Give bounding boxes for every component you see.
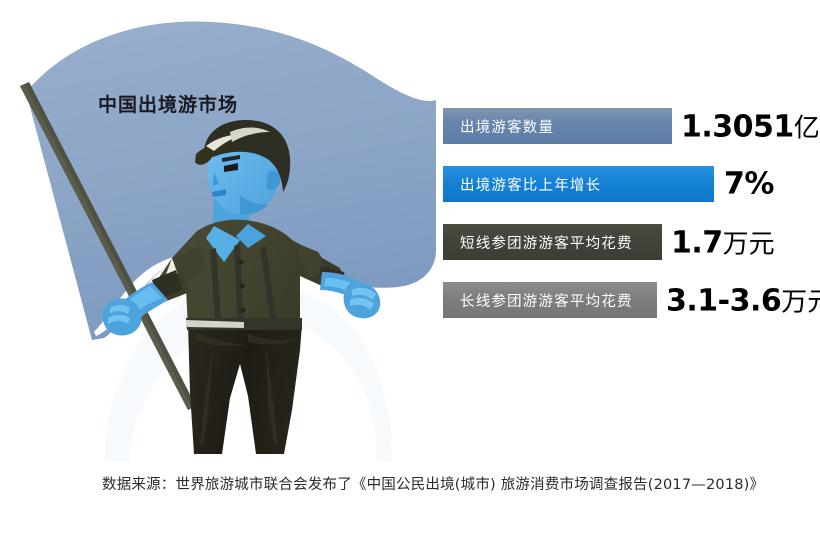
- stat-value-number: 3.1-3.6: [666, 284, 781, 319]
- stat-row: 出境游客数量 1.3051亿人次: [443, 108, 820, 144]
- stat-bar: 短线参团游游客平均花费: [443, 224, 662, 260]
- stat-value-number: 1.3051: [681, 110, 794, 145]
- stat-bar: 出境游客数量: [443, 108, 672, 144]
- stat-value: 1.7万元: [671, 224, 775, 261]
- stat-row: 短线参团游游客平均花费 1.7万元: [443, 224, 820, 260]
- stat-value-unit: 万元: [723, 230, 775, 260]
- stat-label: 短线参团游游客平均花费: [460, 232, 633, 253]
- flag-illustration: 中国出境游市场: [0, 0, 440, 460]
- flag-title: 中国出境游市场: [98, 90, 238, 117]
- stat-value-unit: 亿人次: [794, 114, 820, 144]
- infographic-canvas: 中国出境游市场 出境游客数量 1.3051亿人次 出境游客比上年增长 7% 短线…: [0, 0, 820, 540]
- stat-label: 出境游客数量: [460, 116, 554, 137]
- stat-row: 长线参团游游客平均花费 3.1-3.6万元: [443, 282, 820, 318]
- stat-row: 出境游客比上年增长 7%: [443, 166, 820, 202]
- stat-bar: 出境游客比上年增长: [443, 166, 714, 202]
- stat-label: 出境游客比上年增长: [460, 174, 601, 195]
- stat-label: 长线参团游游客平均花费: [460, 290, 633, 311]
- stat-value-number: 7%: [724, 167, 774, 202]
- source-note: 数据来源：世界旅游城市联合会发布了《中国公民出境(城市) 旅游消费市场调查报告(…: [102, 474, 802, 496]
- stat-value-unit: 万元: [781, 288, 820, 318]
- stat-value: 1.3051亿人次: [681, 108, 820, 145]
- stat-value: 7%: [724, 167, 774, 202]
- stat-value: 3.1-3.6万元: [666, 282, 820, 319]
- stat-value-number: 1.7: [671, 226, 723, 261]
- stats-list: 出境游客数量 1.3051亿人次 出境游客比上年增长 7% 短线参团游游客平均花…: [443, 108, 820, 340]
- stat-bar: 长线参团游游客平均花费: [443, 282, 657, 318]
